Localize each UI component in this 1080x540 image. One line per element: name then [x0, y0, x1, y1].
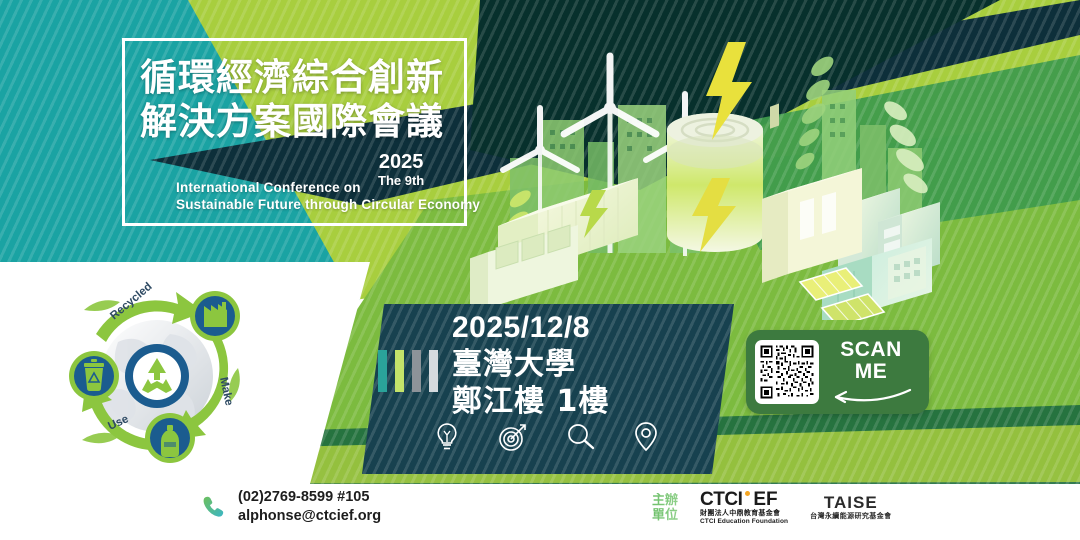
accent-bar-3: [412, 350, 421, 392]
location-pin-icon: [634, 422, 658, 452]
accent-bars: [378, 350, 438, 392]
english-title-line2: Sustainable Future through Circular Econ…: [176, 197, 480, 214]
taise-mark: TAISE: [824, 494, 878, 512]
recycle-center-icon: [125, 344, 189, 408]
ctci-name-en: CTCI Education Foundation: [700, 518, 788, 526]
event-venue-line1: 臺灣大學: [452, 346, 609, 383]
sponsor-logo-ctci-ef[interactable]: CTCI EF 財團法人中鼎教育基金會 CTCI Education Found…: [700, 490, 788, 526]
feature-icon-row: [434, 422, 658, 452]
magnifier-icon: [566, 423, 596, 451]
trash-bin-icon: [69, 351, 119, 401]
page-title-line1: 循環經濟綜合創新: [140, 56, 480, 100]
ctci-suffix: EF: [753, 490, 777, 509]
event-venue-line2: 鄭江樓 1樓: [452, 383, 609, 420]
phone-icon: [200, 494, 226, 520]
event-details: 2025/12/8 臺灣大學 鄭江樓 1樓: [452, 310, 609, 420]
event-year: 2025: [378, 152, 424, 173]
sponsor-block: 主辦 單位 CTCI EF 財團法人中鼎教育基金會 CTCI Education…: [652, 490, 892, 526]
scan-me-line2: ME: [855, 361, 888, 383]
english-title: International Conference on Sustainable …: [176, 180, 480, 213]
bottle-icon: [145, 413, 195, 463]
page-title-line2: 解決方案國際會議: [140, 100, 480, 144]
title-block: 循環經濟綜合創新 解決方案國際會議: [140, 56, 480, 144]
organizer-label: 主辦 單位: [652, 493, 678, 523]
accent-bar-2: [395, 350, 404, 392]
taise-name-cn: 台灣永續能源研究基金會: [810, 512, 891, 521]
ctci-wordmark: CTCI EF: [700, 490, 778, 509]
contact-email[interactable]: alphonse@ctcief.org: [238, 507, 381, 526]
conference-poster: 循環經濟綜合創新 解決方案國際會議 2025 The 9th Internati…: [0, 0, 1080, 540]
contact-block: (02)2769-8599 #105 alphonse@ctcief.org: [200, 488, 381, 526]
scan-me-text: SCAN ME: [819, 339, 929, 406]
ctci-mark: CTCI: [700, 490, 742, 509]
contact-phone[interactable]: (02)2769-8599 #105: [238, 488, 381, 507]
event-date: 2025/12/8: [452, 310, 609, 346]
organizer-label-line1: 主辦: [652, 493, 678, 508]
scan-me-badge[interactable]: SCAN ME: [746, 330, 929, 414]
target-icon: [498, 422, 528, 452]
sponsor-logo-taise[interactable]: TAISE 台灣永續能源研究基金會: [810, 494, 891, 521]
qr-code-icon[interactable]: [755, 340, 819, 404]
contact-lines: (02)2769-8599 #105 alphonse@ctcief.org: [238, 488, 381, 526]
scan-me-line1: SCAN: [840, 339, 902, 361]
ctci-name-cn: 財團法人中鼎教育基金會: [700, 509, 780, 518]
illustration-energy-city: [470, 30, 1080, 320]
lightbulb-icon: [434, 422, 460, 452]
organizer-label-line2: 單位: [652, 508, 678, 523]
ctci-dot-icon: [745, 491, 750, 496]
accent-bar-1: [378, 350, 387, 392]
english-title-line1: International Conference on: [176, 180, 480, 197]
factory-icon: [190, 291, 240, 341]
accent-bar-4: [429, 350, 438, 392]
footer-bar: (02)2769-8599 #105 alphonse@ctcief.org 主…: [0, 484, 1080, 540]
curved-arrow-icon: [828, 386, 914, 406]
circular-economy-diagram: Recycled Make Use: [52, 272, 262, 480]
